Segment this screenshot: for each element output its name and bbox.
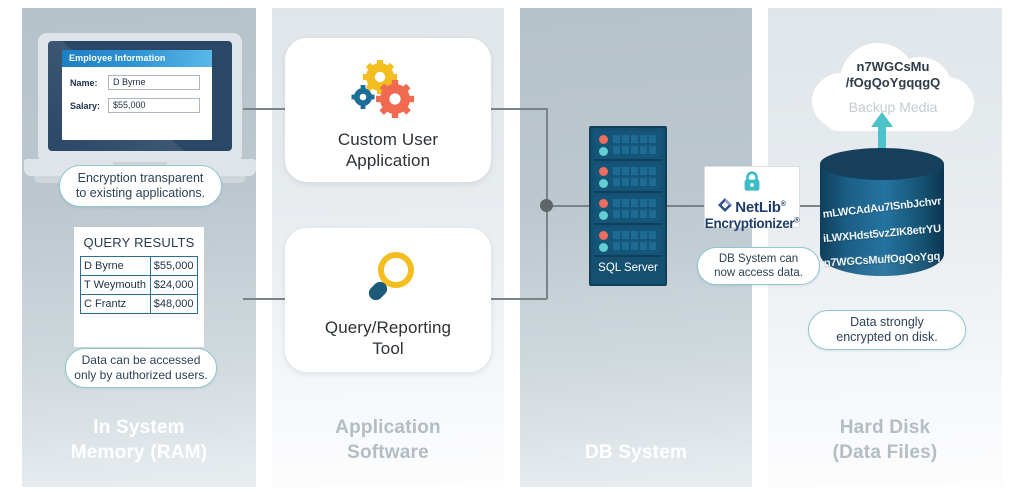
- name-label: Name:: [70, 78, 108, 88]
- wire-query-tool-to-bus: [489, 298, 547, 300]
- card-label-custom-user-application: Custom UserApplication: [338, 129, 438, 172]
- led-teal-icon: [599, 179, 608, 188]
- table-row: T Weymouth $24,000: [81, 276, 198, 295]
- magnifier-icon: [353, 250, 423, 313]
- rack-unit: [594, 131, 662, 161]
- wire-custom-app-to-bus: [489, 108, 547, 110]
- rack-chassis: SQL Server: [589, 126, 667, 286]
- vent-grill: [613, 231, 659, 252]
- callout-encryption-transparent: Encryption transparentto existing applic…: [59, 165, 222, 207]
- wire-junction-dot: [540, 199, 553, 212]
- salary-label: Salary:: [70, 101, 108, 111]
- cell-amount: $55,000: [150, 257, 197, 276]
- laptop-screen: Employee Information Name: D Byrne Salar…: [48, 41, 232, 151]
- led-teal-icon: [599, 147, 608, 156]
- led-teal-icon: [599, 211, 608, 220]
- panel-label-disk: Hard Disk(Data Files): [768, 416, 1002, 465]
- led-red-icon: [599, 135, 608, 144]
- server-label: SQL Server: [594, 255, 662, 281]
- cloud-ciphertext: n7WGCsMu /fOgQoYgqqgQ: [812, 59, 974, 90]
- netlib-wordmark-row: NetLib®: [718, 198, 785, 217]
- gears-icon: [348, 60, 428, 123]
- form-row-salary: Salary: $55,000: [70, 98, 212, 113]
- window-title-bar: Employee Information: [62, 50, 212, 67]
- name-input[interactable]: D Byrne: [108, 75, 200, 90]
- query-results-card: QUERY RESULTS D Byrne $55,000 T Weymouth…: [74, 227, 204, 347]
- cloud-cipher-line-1: n7WGCsMu: [812, 59, 974, 75]
- netlib-diamond-icon: [718, 198, 733, 217]
- wire-bus-to-server: [552, 205, 592, 207]
- query-results-title: QUERY RESULTS: [74, 227, 204, 250]
- query-results-table: D Byrne $55,000 T Weymouth $24,000 C Fra…: [80, 256, 198, 314]
- netlib-encryptionizer-logo: NetLib® Encryptionizer®: [704, 166, 800, 228]
- padlock-icon: [741, 170, 763, 197]
- vent-grill: [613, 167, 659, 188]
- panel-label-ram: In SystemMemory (RAM): [22, 416, 256, 465]
- led-teal-icon: [599, 243, 608, 252]
- table-row: C Frantz $48,000: [81, 295, 198, 314]
- rack-unit: [594, 227, 662, 257]
- wire-server-to-netlib: [665, 205, 707, 207]
- vent-grill: [613, 199, 659, 220]
- cell-name: T Weymouth: [81, 276, 151, 295]
- callout-authorized-users: Data can be accessedonly by authorized u…: [65, 348, 217, 388]
- callout-db-system-access: DB System cannow access data.: [697, 247, 820, 285]
- wire-table-to-query-tool: [243, 298, 287, 300]
- cloud-cipher-line-2: /fOgQoYgqqgQ: [812, 75, 974, 91]
- salary-input[interactable]: $55,000: [108, 98, 200, 113]
- led-red-icon: [599, 167, 608, 176]
- form-row-name: Name: D Byrne: [70, 75, 212, 90]
- led-red-icon: [599, 199, 608, 208]
- cell-name: D Byrne: [81, 257, 151, 276]
- led-red-icon: [599, 231, 608, 240]
- card-custom-user-application[interactable]: Custom UserApplication: [285, 38, 491, 182]
- employee-information-window[interactable]: Employee Information Name: D Byrne Salar…: [62, 50, 212, 140]
- card-query-reporting-tool[interactable]: Query/ReportingTool: [285, 228, 491, 372]
- laptop-illustration: Employee Information Name: D Byrne Salar…: [38, 33, 242, 185]
- cell-amount: $48,000: [150, 295, 197, 314]
- vent-grill: [613, 135, 659, 156]
- rack-unit: [594, 163, 662, 193]
- cell-amount: $24,000: [150, 276, 197, 295]
- card-label-query-reporting-tool: Query/ReportingTool: [325, 317, 451, 360]
- rack-unit: [594, 195, 662, 225]
- encrypted-hard-disk-cylinder: mLWCAdAu7ISnbJchvr iLWXHdst5vzZIK8etrYU …: [820, 148, 944, 290]
- sql-server-rack: SQL Server: [589, 126, 667, 286]
- netlib-product-name: Encryptionizer®: [705, 216, 799, 231]
- callout-data-strongly-encrypted: Data stronglyencrypted on disk.: [808, 310, 966, 350]
- netlib-wordmark: NetLib®: [735, 199, 785, 216]
- diagram-canvas: In SystemMemory (RAM) ApplicationSoftwar…: [0, 0, 1024, 495]
- panel-label-db: DB System: [520, 441, 752, 465]
- laptop-lid: Employee Information Name: D Byrne Salar…: [38, 33, 242, 159]
- wire-laptop-to-custom-app: [243, 108, 287, 110]
- table-row: D Byrne $55,000: [81, 257, 198, 276]
- cell-name: C Frantz: [81, 295, 151, 314]
- panel-label-app: ApplicationSoftware: [272, 416, 504, 465]
- cylinder-top: [820, 148, 944, 180]
